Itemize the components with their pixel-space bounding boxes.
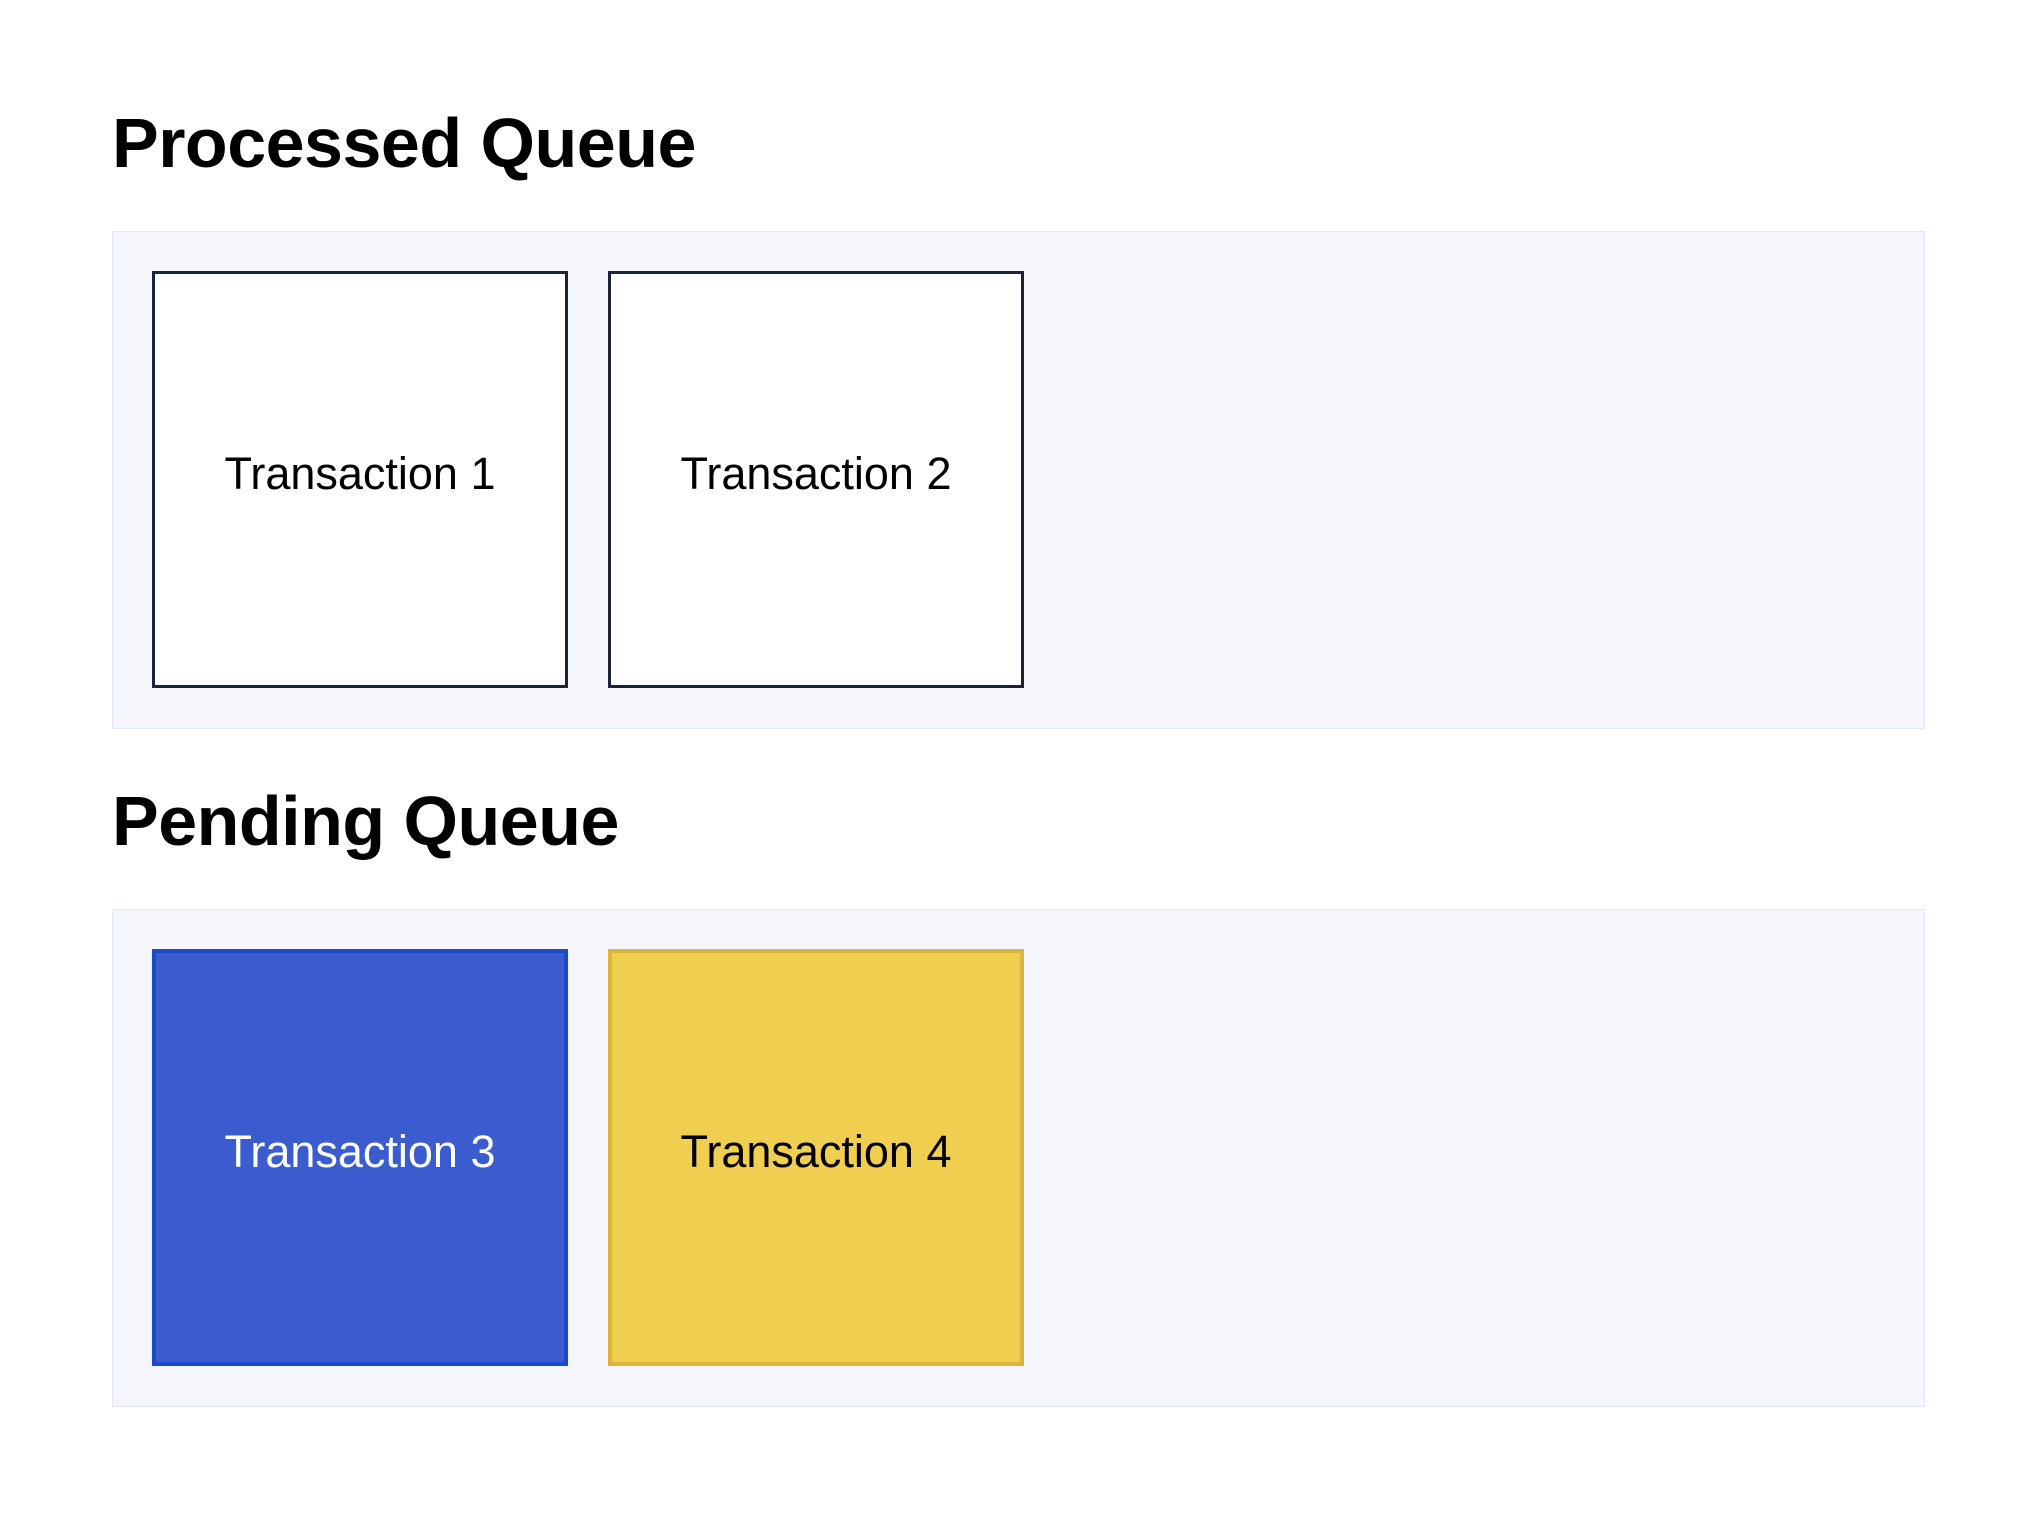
transaction-card-4-label: Transaction 4 [681,1129,952,1174]
transaction-card-2[interactable]: Transaction 2 [608,271,1024,688]
pending-queue-panel: Transaction 3 Transaction 4 [112,909,1925,1407]
processed-queue-heading: Processed Queue [112,108,1924,178]
queue-board: Processed Queue Transaction 1 Transactio… [0,0,2036,1532]
transaction-card-1[interactable]: Transaction 1 [152,271,568,688]
pending-queue-section: Pending Queue Transaction 3 Transaction … [112,729,1924,1407]
transaction-card-3-label: Transaction 3 [225,1129,496,1174]
transaction-card-1-label: Transaction 1 [225,451,496,496]
processed-queue-section: Processed Queue Transaction 1 Transactio… [112,0,1924,729]
transaction-card-3[interactable]: Transaction 3 [152,949,568,1366]
processed-queue-panel: Transaction 1 Transaction 2 [112,231,1925,729]
pending-queue-heading: Pending Queue [112,786,1924,856]
transaction-card-2-label: Transaction 2 [681,451,952,496]
transaction-card-4[interactable]: Transaction 4 [608,949,1024,1366]
